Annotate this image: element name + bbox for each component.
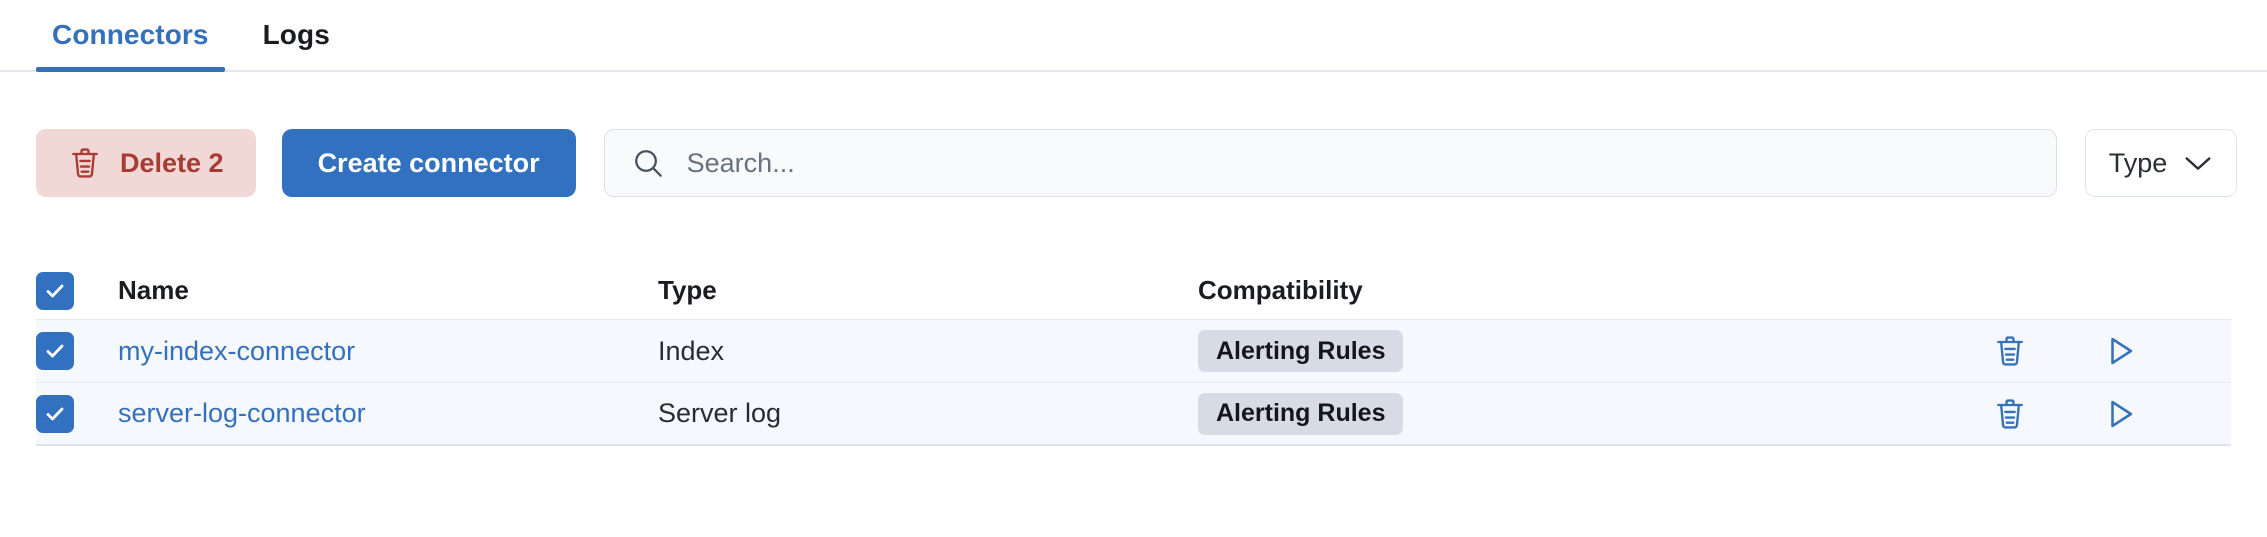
trash-icon	[1993, 333, 2027, 369]
run-icon	[2105, 397, 2137, 431]
type-filter-dropdown[interactable]: Type	[2085, 129, 2237, 197]
row-actions-cell	[1971, 396, 2231, 432]
search-icon	[631, 146, 665, 180]
toolbar: Delete 2 Create connector Type	[0, 127, 2267, 199]
row-delete-button[interactable]	[1993, 396, 2027, 432]
connector-name-link[interactable]: server-log-connector	[118, 398, 366, 428]
table-row[interactable]: server-log-connector Server log Alerting…	[36, 383, 2231, 446]
tab-logs[interactable]: Logs	[247, 0, 346, 70]
row-name-cell: my-index-connector	[118, 336, 658, 367]
search-input[interactable]	[687, 148, 2030, 179]
row-name-cell: server-log-connector	[118, 398, 658, 429]
row-type-cell: Server log	[658, 398, 1198, 429]
delete-button-label: Delete 2	[120, 148, 224, 179]
table-row[interactable]: my-index-connector Index Alerting Rules	[36, 320, 2231, 383]
compatibility-badge: Alerting Rules	[1198, 330, 1403, 372]
chevron-down-icon	[2183, 148, 2213, 179]
create-connector-label: Create connector	[318, 148, 540, 179]
row-run-button[interactable]	[2105, 397, 2137, 431]
column-header-type[interactable]: Type	[658, 275, 1198, 306]
select-all-cell	[36, 272, 118, 310]
compatibility-badge: Alerting Rules	[1198, 393, 1403, 435]
row-actions-cell	[1971, 333, 2231, 369]
row-compatibility-cell: Alerting Rules	[1198, 393, 1971, 435]
type-filter-label: Type	[2109, 148, 2168, 179]
tab-connectors-label: Connectors	[52, 19, 209, 51]
create-connector-button[interactable]: Create connector	[282, 129, 576, 197]
search-box[interactable]	[604, 129, 2057, 197]
tab-connectors[interactable]: Connectors	[36, 0, 225, 70]
connector-name-link[interactable]: my-index-connector	[118, 336, 355, 366]
run-icon	[2105, 334, 2137, 368]
row-checkbox[interactable]	[36, 332, 74, 370]
row-run-button[interactable]	[2105, 334, 2137, 368]
row-delete-button[interactable]	[1993, 333, 2027, 369]
column-header-compatibility[interactable]: Compatibility	[1198, 275, 1971, 306]
column-header-name[interactable]: Name	[118, 275, 658, 306]
row-type-cell: Index	[658, 336, 1198, 367]
row-checkbox[interactable]	[36, 395, 74, 433]
tab-bar: Connectors Logs	[0, 0, 2267, 72]
row-select-cell	[36, 332, 118, 370]
row-compatibility-cell: Alerting Rules	[1198, 330, 1971, 372]
connectors-page: Connectors Logs Delete 2 Create connecto…	[0, 0, 2267, 537]
row-select-cell	[36, 395, 118, 433]
tab-logs-label: Logs	[263, 19, 330, 51]
delete-button[interactable]: Delete 2	[36, 129, 256, 197]
trash-icon	[68, 145, 102, 181]
select-all-checkbox[interactable]	[36, 272, 74, 310]
trash-icon	[1993, 396, 2027, 432]
table-header-row: Name Type Compatibility	[36, 262, 2231, 320]
connectors-table: Name Type Compatibility my-index-connect…	[36, 262, 2231, 446]
